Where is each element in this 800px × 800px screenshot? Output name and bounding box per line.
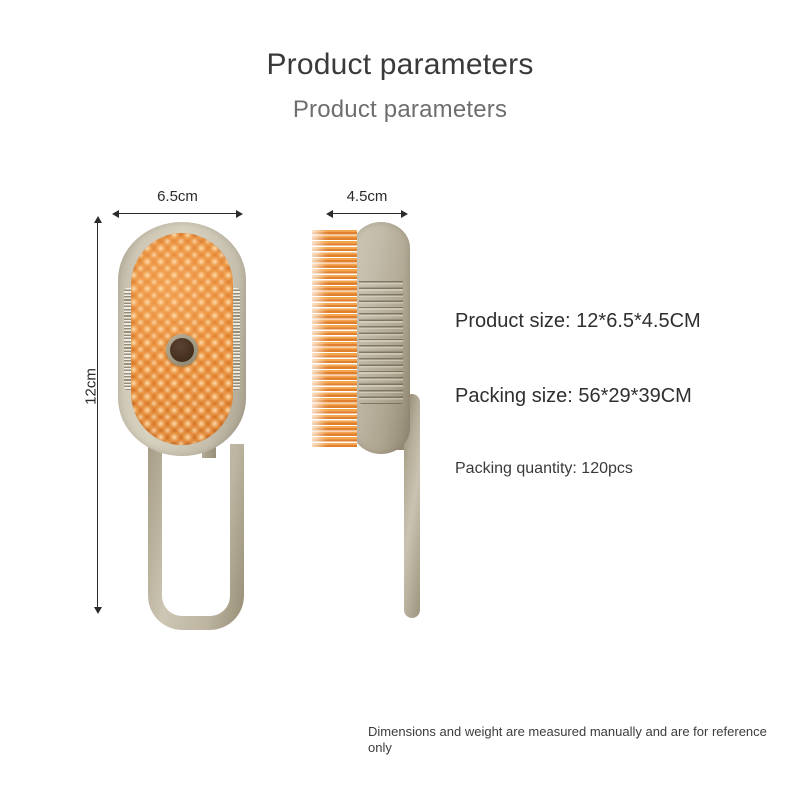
arrow-head-bottom-icon — [94, 607, 102, 614]
product-side-view-image — [312, 222, 424, 622]
disclaimer-footnote: Dimensions and weight are measured manua… — [368, 724, 768, 756]
handle-loop — [148, 444, 244, 630]
dimension-label-side-width: 4.5cm — [326, 188, 408, 205]
arrow-shaft — [97, 221, 98, 609]
side-body-shell — [352, 222, 410, 454]
brush-head-shell — [118, 222, 246, 456]
arrow-head-right-icon — [236, 210, 243, 218]
dimension-arrow-side-width — [326, 208, 408, 219]
side-body-ridges — [359, 278, 403, 404]
center-port-hole — [170, 338, 194, 362]
product-front-view-image — [118, 222, 246, 622]
spec-packing-quantity: Packing quantity: 120pcs — [455, 460, 633, 478]
arrow-head-right-icon — [401, 210, 408, 218]
dimension-arrow-front-width — [112, 208, 243, 219]
dimension-arrow-height — [92, 216, 103, 614]
arrow-shaft — [331, 213, 403, 214]
page-subtitle: Product parameters — [0, 96, 800, 124]
dimension-label-front-width: 6.5cm — [112, 188, 243, 205]
spec-packing-size: Packing size: 56*29*39CM — [455, 385, 692, 408]
bristle-tip-highlight — [312, 230, 328, 448]
product-parameters-page: Product parameters Product parameters 6.… — [0, 0, 800, 800]
page-title: Product parameters — [0, 48, 800, 82]
arrow-shaft — [117, 213, 238, 214]
spec-product-size: Product size: 12*6.5*4.5CM — [455, 310, 701, 333]
